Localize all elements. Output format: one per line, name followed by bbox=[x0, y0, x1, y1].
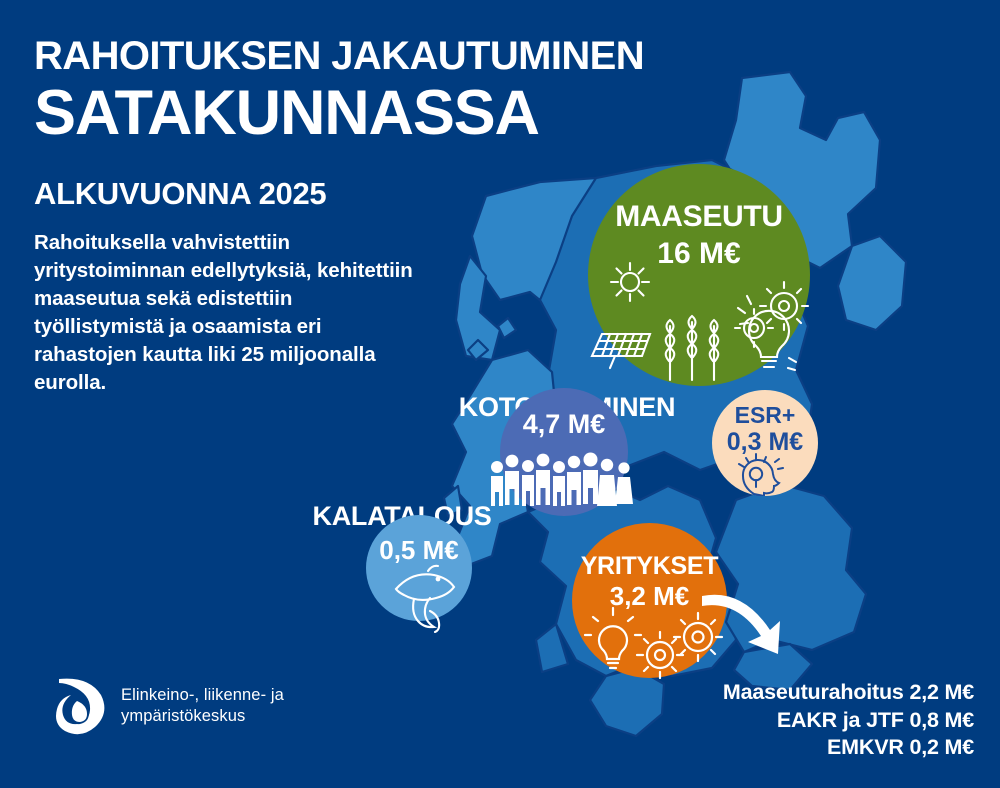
sun-icon bbox=[611, 263, 649, 301]
intro-paragraph: Rahoituksella vahvistettiin yritystoimin… bbox=[34, 229, 414, 396]
page-title-line1: RAHOITUKSEN JAKAUTUMINEN bbox=[34, 36, 634, 76]
ely-logo: Elinkeino-, liikenne- ja ympäristökeskus bbox=[55, 675, 284, 737]
wheat-icon bbox=[666, 316, 719, 380]
solar-panel-icon bbox=[592, 334, 650, 368]
bubble-esr-label: ESR+ bbox=[735, 404, 796, 428]
bubble-maaseutu[interactable]: MAASEUTU 16 M€ bbox=[588, 164, 810, 386]
breakdown-line-3: EMKVR 0,2 M€ bbox=[723, 734, 974, 762]
ely-logo-text-line1: Elinkeino-, liikenne- ja bbox=[121, 685, 284, 706]
bubble-maaseutu-label: MAASEUTU bbox=[615, 201, 783, 232]
breakdown-list: Maaseuturahoitus 2,2 M€ EAKR ja JTF 0,8 … bbox=[723, 679, 974, 762]
fish-icon bbox=[386, 563, 468, 633]
bubble-esr-value: 0,3 M€ bbox=[727, 429, 803, 455]
header-block: RAHOITUKSEN JAKAUTUMINEN SATAKUNNASSA AL… bbox=[34, 36, 634, 396]
infographic-poster: RAHOITUKSEN JAKAUTUMINEN SATAKUNNASSA AL… bbox=[0, 0, 1000, 788]
ely-logo-text-line2: ympäristökeskus bbox=[121, 706, 284, 727]
bubble-kotoutuminen[interactable]: 4,7 M€ bbox=[500, 388, 628, 516]
bubble-yritykset-label: YRITYKSET bbox=[581, 553, 719, 579]
lightbulb-icon bbox=[585, 608, 641, 668]
bubble-kalatalous[interactable]: 0,5 M€ bbox=[366, 515, 472, 621]
breakdown-line-1: Maaseuturahoitus 2,2 M€ bbox=[723, 679, 974, 707]
ely-logo-text: Elinkeino-, liikenne- ja ympäristökeskus bbox=[121, 685, 284, 727]
crowd-of-people-icon bbox=[488, 450, 640, 510]
breakdown-line-2: EAKR ja JTF 0,8 M€ bbox=[723, 707, 974, 735]
page-subtitle: ALKUVUONNA 2025 bbox=[34, 176, 634, 212]
ely-leaf-logo-icon bbox=[55, 675, 107, 737]
bubble-kalatalous-value: 0,5 M€ bbox=[379, 537, 459, 564]
curved-arrow-icon bbox=[700, 580, 810, 670]
lightbulb-gear-icon bbox=[735, 282, 808, 370]
page-title-line2: SATAKUNNASSA bbox=[34, 80, 634, 146]
head-with-lightbulb-icon bbox=[734, 452, 796, 496]
bubble-esr[interactable]: ESR+ 0,3 M€ bbox=[712, 390, 818, 496]
maaseutu-icon-group bbox=[588, 250, 810, 386]
bubble-kotoutuminen-value: 4,7 M€ bbox=[523, 410, 606, 438]
